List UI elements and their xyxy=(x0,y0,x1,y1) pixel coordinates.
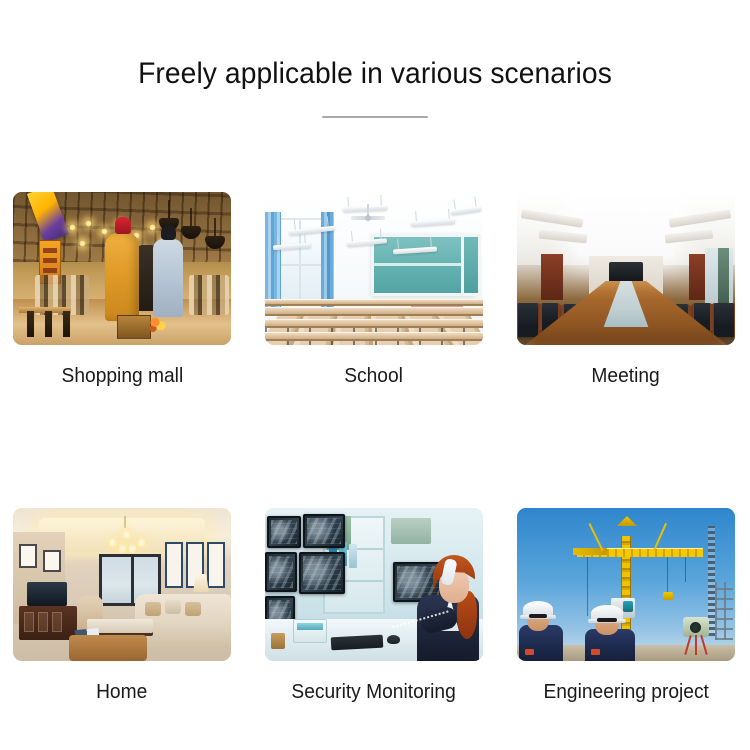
scenario-label-engineering-project: Engineering project xyxy=(543,680,708,704)
shopping-mall-scene xyxy=(13,192,231,345)
worker-sunglasses xyxy=(529,614,547,618)
scenario-label-school: School xyxy=(345,364,404,388)
crane-hook xyxy=(663,592,673,600)
engineering-antenna-mast xyxy=(708,526,715,636)
scenario-card-engineering-project[interactable]: Engineering project xyxy=(517,508,735,704)
scenarios-page: Freely applicable in various scenarios xyxy=(0,0,750,750)
security-monitoring-photo[interactable] xyxy=(265,508,483,661)
meeting-ceiling-light-panel xyxy=(578,192,674,256)
home-tv-cabinet xyxy=(19,606,77,640)
cctv-monitor xyxy=(265,552,297,592)
classroom-ceiling-fan xyxy=(351,216,385,220)
crane-cable xyxy=(667,552,668,592)
mall-stool xyxy=(63,311,70,337)
scenario-card-shopping-mall[interactable]: Shopping mall xyxy=(13,192,231,388)
security-keyboard xyxy=(331,635,384,651)
shopping-mall-photo[interactable] xyxy=(13,192,231,345)
security-pen-cup xyxy=(271,633,285,649)
engineering-scaffolding xyxy=(715,582,733,640)
engineering-project-photo[interactable] xyxy=(517,508,735,661)
engineering-scene xyxy=(517,508,735,661)
scenario-label-meeting: Meeting xyxy=(592,364,660,388)
scenario-row-2: Home xyxy=(13,508,723,704)
scenario-label-shopping-mall: Shopping mall xyxy=(61,364,183,388)
classroom-chalkboard xyxy=(371,234,475,296)
security-desk-phone xyxy=(293,619,327,643)
mall-mannequin-coat xyxy=(105,233,139,321)
security-binder xyxy=(349,544,357,568)
construction-worker xyxy=(519,603,565,661)
surveying-total-station xyxy=(683,617,709,649)
total-station-tripod xyxy=(685,635,707,655)
meeting-scene xyxy=(517,192,735,345)
home-living-room-photo[interactable] xyxy=(13,508,231,661)
mall-clothing-rack xyxy=(189,275,229,315)
classroom-desk-row xyxy=(265,299,483,306)
crane-cable xyxy=(587,552,588,616)
page-title: Freely applicable in various scenarios xyxy=(23,56,728,92)
mall-flowers xyxy=(147,315,167,333)
classroom-side-board xyxy=(461,234,481,296)
title-divider xyxy=(322,116,428,118)
mall-mannequin-blue xyxy=(153,239,183,317)
home-scene xyxy=(13,508,231,661)
scenario-grid: Shopping mall xyxy=(13,192,737,704)
meeting-chair xyxy=(711,303,735,337)
scenario-label-security-monitoring: Security Monitoring xyxy=(292,680,456,704)
school-scene xyxy=(265,192,483,345)
worker-badge xyxy=(525,649,534,655)
home-chandelier xyxy=(105,526,145,556)
classroom-desk-row xyxy=(265,332,483,341)
worker-sunglasses xyxy=(597,618,617,622)
mall-crate xyxy=(117,315,151,339)
security-operator xyxy=(407,541,481,661)
total-station-lens xyxy=(690,622,701,633)
home-ottoman xyxy=(69,635,147,661)
home-picture-frame xyxy=(43,550,61,572)
home-television xyxy=(27,582,67,606)
meeting-room-photo[interactable] xyxy=(517,192,735,345)
scenario-card-home[interactable]: Home xyxy=(13,508,231,704)
scenario-row-1: Shopping mall xyxy=(13,192,723,388)
classroom-curtain-left xyxy=(265,212,281,312)
scenario-card-security-monitoring[interactable]: Security Monitoring xyxy=(265,508,483,704)
scenario-card-school[interactable]: School xyxy=(265,192,483,388)
cctv-monitor xyxy=(299,552,345,594)
security-mouse xyxy=(387,635,400,644)
school-classroom-photo[interactable] xyxy=(265,192,483,345)
worker-badge xyxy=(591,649,600,655)
classroom-desk-row xyxy=(265,319,483,328)
meeting-wall-screen xyxy=(609,262,643,282)
construction-worker xyxy=(585,609,637,661)
cctv-monitor xyxy=(303,514,345,548)
scenario-card-meeting[interactable]: Meeting xyxy=(517,192,735,388)
row-spacer xyxy=(13,388,737,508)
mall-stool xyxy=(27,311,34,337)
security-scene xyxy=(265,508,483,661)
home-picture-frame xyxy=(19,544,37,568)
meeting-chair xyxy=(517,303,541,337)
scenario-label-home: Home xyxy=(96,680,147,704)
mall-stool xyxy=(45,311,52,337)
classroom-desk-row xyxy=(265,307,483,316)
cctv-monitor xyxy=(267,516,301,548)
